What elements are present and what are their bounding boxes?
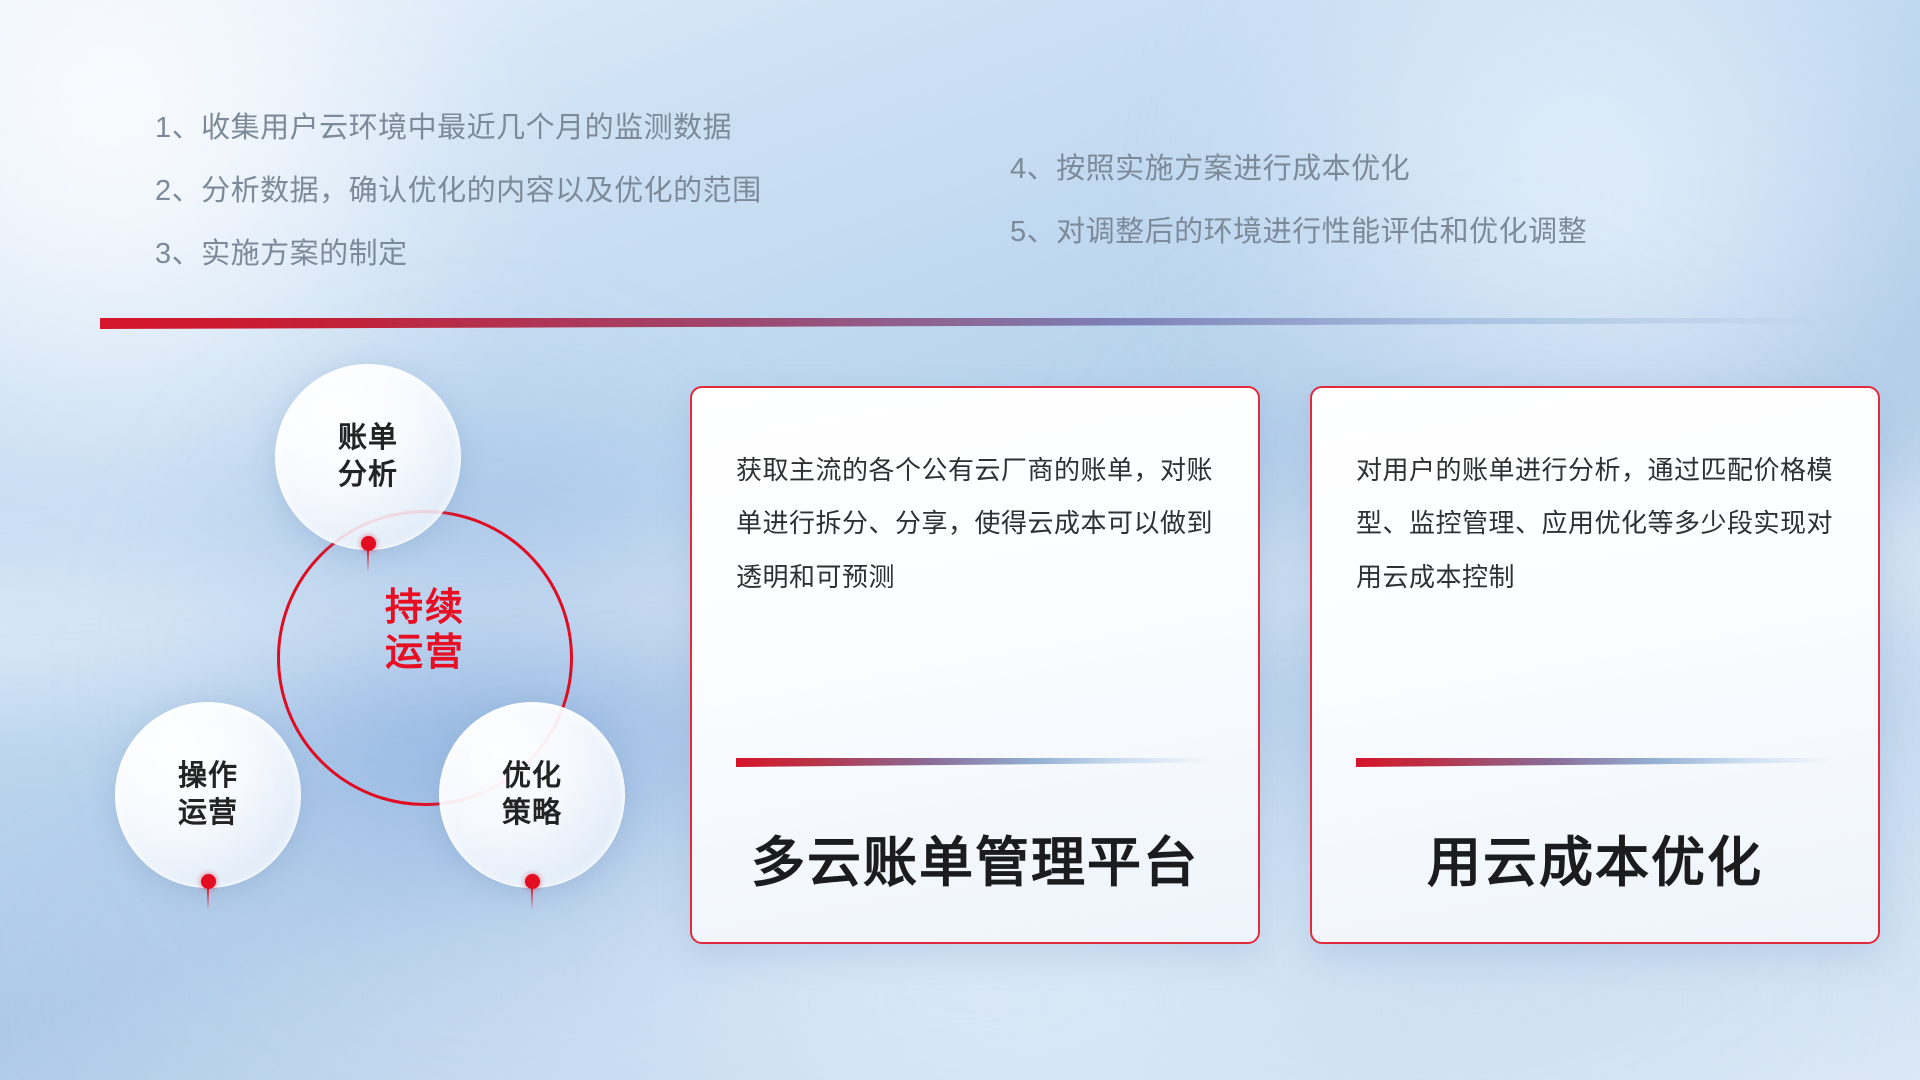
card-cloud-cost-optimization[interactable]: 对用户的账单进行分析，通过匹配价格模型、监控管理、应用优化等多少段实现对用云成本… <box>1310 386 1880 944</box>
section-divider <box>100 318 1845 329</box>
card-multicloud-billing-platform[interactable]: 获取主流的各个公有云厂商的账单，对账单进行拆分、分享，使得云成本可以做到透明和可… <box>690 386 1260 944</box>
bubble-optimization-strategy-line1: 优化 <box>502 760 562 792</box>
bubble-optimization-strategy[interactable]: 优化策略 <box>439 702 625 888</box>
node-dot-top <box>361 536 376 551</box>
bubble-optimization-strategy-line2: 策略 <box>502 797 562 829</box>
center-ring-label-line1: 持续 <box>277 586 573 631</box>
bubble-operation-line1: 操作 <box>178 760 238 792</box>
step-item-3: 3、实施方案的制定 <box>155 240 762 269</box>
bubble-bill-analysis[interactable]: 账单分析 <box>275 364 461 550</box>
card-1-body: 获取主流的各个公有云厂商的账单，对账单进行拆分、分享，使得云成本可以做到透明和可… <box>736 444 1214 604</box>
center-ring-label-line2: 运营 <box>277 631 573 676</box>
node-dot-left <box>201 874 216 889</box>
center-ring-label: 持续 运营 <box>277 586 573 676</box>
step-item-1: 1、收集用户云环境中最近几个月的监测数据 <box>155 114 762 143</box>
continuous-operation-diagram: 持续 运营 账单分析 操作运营 优化策略 <box>95 350 655 950</box>
bubble-bill-analysis-line2: 分析 <box>338 459 398 491</box>
connector-tail-right <box>531 886 533 910</box>
node-dot-right <box>525 874 540 889</box>
step-item-5: 5、对调整后的环境进行性能评估和优化调整 <box>1010 218 1587 247</box>
card-2-title: 用云成本优化 <box>1312 818 1878 897</box>
bubble-operation-label: 操作运营 <box>178 758 238 831</box>
connector-tail-top <box>367 548 369 572</box>
steps-right-column: 4、按照实施方案进行成本优化 5、对调整后的环境进行性能评估和优化调整 <box>1010 155 1587 281</box>
step-item-4: 4、按照实施方案进行成本优化 <box>1010 155 1587 184</box>
bubble-bill-analysis-label: 账单分析 <box>338 420 398 493</box>
connector-tail-left <box>207 886 209 910</box>
steps-left-column: 1、收集用户云环境中最近几个月的监测数据 2、分析数据，确认优化的内容以及优化的… <box>155 114 762 303</box>
bubble-optimization-strategy-label: 优化策略 <box>502 758 562 831</box>
card-1-title: 多云账单管理平台 <box>692 818 1258 897</box>
bubble-bill-analysis-line1: 账单 <box>338 422 398 454</box>
card-2-divider <box>1356 758 1834 767</box>
bubble-operation[interactable]: 操作运营 <box>115 702 301 888</box>
card-1-divider <box>736 758 1214 767</box>
steps-list: 1、收集用户云环境中最近几个月的监测数据 2、分析数据，确认优化的内容以及优化的… <box>0 0 1920 300</box>
bubble-operation-line2: 运营 <box>178 797 238 829</box>
step-item-2: 2、分析数据，确认优化的内容以及优化的范围 <box>155 177 762 206</box>
card-2-body: 对用户的账单进行分析，通过匹配价格模型、监控管理、应用优化等多少段实现对用云成本… <box>1356 444 1834 604</box>
section-divider-bar <box>100 318 1845 329</box>
